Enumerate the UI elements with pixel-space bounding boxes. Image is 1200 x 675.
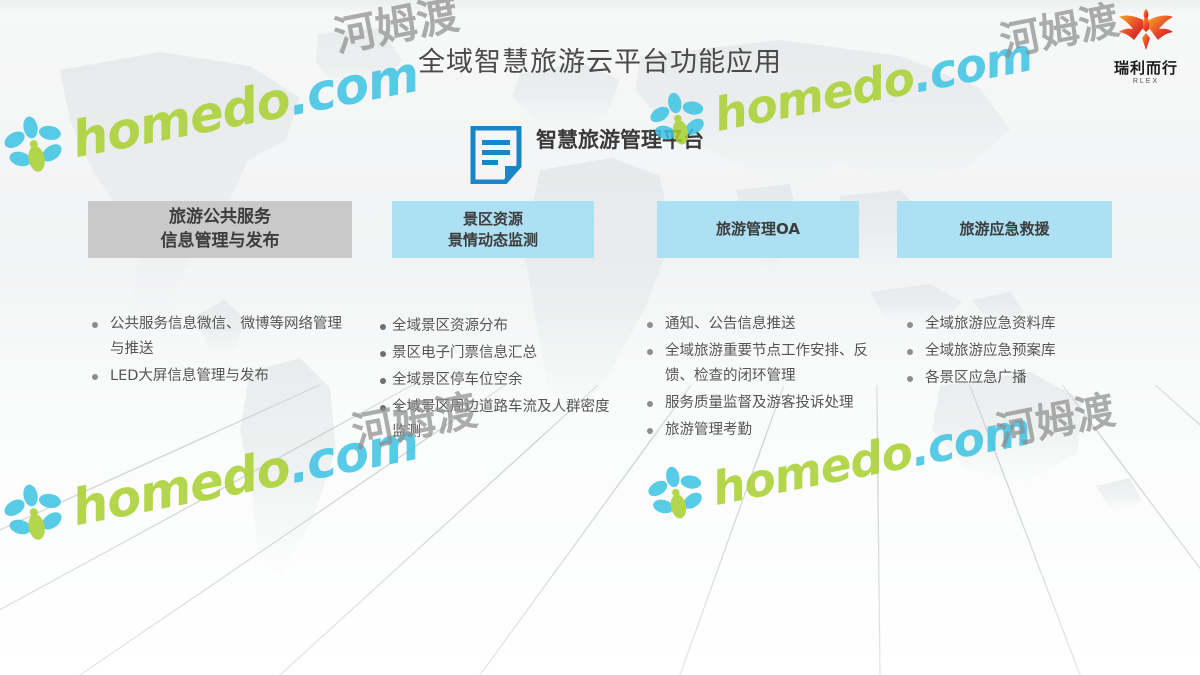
- column-list-public-service: 公共服务信息微信、微博等网络管理与推送 LED大屏信息管理与发布: [88, 312, 356, 389]
- column-header-scenic-resource[interactable]: 景区资源 景情动态监测: [392, 201, 594, 258]
- column-tourism-oa: 旅游管理OA 通知、公告信息推送 全域旅游重要节点工作安排、反馈、检查的闭环管理…: [657, 201, 859, 445]
- corporate-logo: 瑞利而行 RLEX: [1100, 6, 1192, 85]
- logo-name-en: RLEX: [1100, 78, 1192, 85]
- header-line-2: 景情动态监测: [448, 231, 538, 249]
- list-item: 全域景区周边道路车流及人群密度监测: [380, 395, 616, 445]
- platform-header: 智慧旅游管理平台: [470, 126, 800, 184]
- list-item: 公共服务信息微信、微博等网络管理与推送: [88, 312, 356, 362]
- logo-name-cn: 瑞利而行: [1100, 57, 1192, 78]
- column-header-emergency-rescue[interactable]: 旅游应急救援: [897, 201, 1112, 258]
- column-list-scenic-resource: 全域景区资源分布 景区电子门票信息汇总 全域景区停车位空余 全域景区周边道路车流…: [380, 314, 616, 445]
- column-list-emergency-rescue: 全域旅游应急资料库 全域旅游应急预案库 各景区应急广播: [903, 312, 1123, 391]
- header-line-1: 旅游应急救援: [959, 219, 1049, 240]
- column-public-service: 旅游公共服务 信息管理与发布 公共服务信息微信、微博等网络管理与推送 LED大屏…: [88, 201, 352, 391]
- list-item: 全域景区停车位空余: [380, 368, 616, 393]
- column-scenic-resource: 景区资源 景情动态监测 全域景区资源分布 景区电子门票信息汇总 全域景区停车位空…: [392, 201, 594, 447]
- platform-label: 智慧旅游管理平台: [536, 126, 736, 154]
- list-item: 全域旅游应急预案库: [903, 339, 1123, 364]
- list-item: LED大屏信息管理与发布: [88, 364, 356, 389]
- header-line-1: 旅游管理OA: [716, 219, 800, 240]
- list-item: 景区电子门票信息汇总: [380, 341, 616, 366]
- column-emergency-rescue: 旅游应急救援 全域旅游应急资料库 全域旅游应急预案库 各景区应急广播: [897, 201, 1112, 393]
- function-columns: 旅游公共服务 信息管理与发布 公共服务信息微信、微博等网络管理与推送 LED大屏…: [0, 0, 1200, 675]
- column-list-tourism-oa: 通知、公告信息推送 全域旅游重要节点工作安排、反馈、检查的闭环管理 服务质量监督…: [643, 312, 878, 443]
- slide-canvas: 全域智慧旅游云平台功能应用 智慧旅游管理平台 旅游公共服务 信息管理与发布: [0, 0, 1200, 675]
- list-item: 通知、公告信息推送: [643, 312, 878, 337]
- document-icon: [470, 126, 522, 184]
- header-line-1: 景区资源: [463, 210, 523, 228]
- phoenix-icon: [1117, 39, 1175, 56]
- header-line-1: 旅游公共服务: [169, 207, 271, 227]
- list-item: 全域景区资源分布: [380, 314, 616, 339]
- page-title: 全域智慧旅游云平台功能应用: [0, 40, 1200, 79]
- list-item: 服务质量监督及游客投诉处理: [643, 391, 878, 416]
- header-line-2: 信息管理与发布: [161, 231, 280, 251]
- column-header-tourism-oa[interactable]: 旅游管理OA: [657, 201, 859, 258]
- list-item: 全域旅游重要节点工作安排、反馈、检查的闭环管理: [643, 339, 878, 389]
- list-item: 旅游管理考勤: [643, 418, 878, 443]
- list-item: 全域旅游应急资料库: [903, 312, 1123, 337]
- list-item: 各景区应急广播: [903, 366, 1123, 391]
- column-header-public-service[interactable]: 旅游公共服务 信息管理与发布: [88, 201, 352, 258]
